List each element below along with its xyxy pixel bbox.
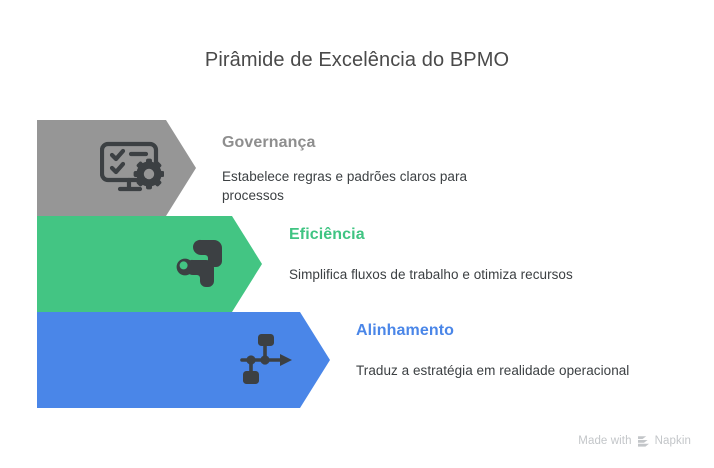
napkin-brand-label: Napkin	[655, 434, 691, 448]
alignment-description: Traduz a estratégia em realidade operaci…	[356, 361, 696, 380]
napkin-chevrons-logo-icon	[637, 435, 650, 448]
flow-nodes-arrow-icon	[236, 333, 294, 387]
efficiency-description: Simplifica fluxos de trabalho e otimiza …	[289, 265, 629, 284]
efficiency-heading: Eficiência	[289, 225, 629, 245]
governance-text-block: Governança Estabelece regras e padrões c…	[222, 133, 522, 229]
diagram-canvas: Pirâmide de Excelência do BPMO	[0, 0, 714, 468]
napkin-watermark[interactable]: Made with Napkin	[578, 434, 691, 448]
efficiency-text-block: Eficiência Simplifica fluxos de trabalho…	[289, 225, 629, 321]
alignment-text-block: Alinhamento Traduz a estratégia em reali…	[356, 321, 696, 417]
screen-checklist-gear-icon	[100, 138, 164, 198]
pyramid-row-governance[interactable]: Governança Estabelece regras e padrões c…	[0, 120, 714, 216]
governance-description: Estabelece regras e padrões claros para …	[222, 167, 522, 205]
efficiency-arrow-band	[37, 216, 262, 312]
page-title: Pirâmide de Excelência do BPMO	[0, 46, 714, 74]
made-with-label: Made with	[578, 434, 631, 448]
governance-heading: Governança	[222, 133, 522, 153]
pyramid-row-alignment[interactable]: Alinhamento Traduz a estratégia em reali…	[0, 312, 714, 408]
puzzle-blocks-icon	[172, 238, 224, 290]
alignment-heading: Alinhamento	[356, 321, 696, 341]
pyramid-row-efficiency[interactable]: Eficiência Simplifica fluxos de trabalho…	[0, 216, 714, 312]
